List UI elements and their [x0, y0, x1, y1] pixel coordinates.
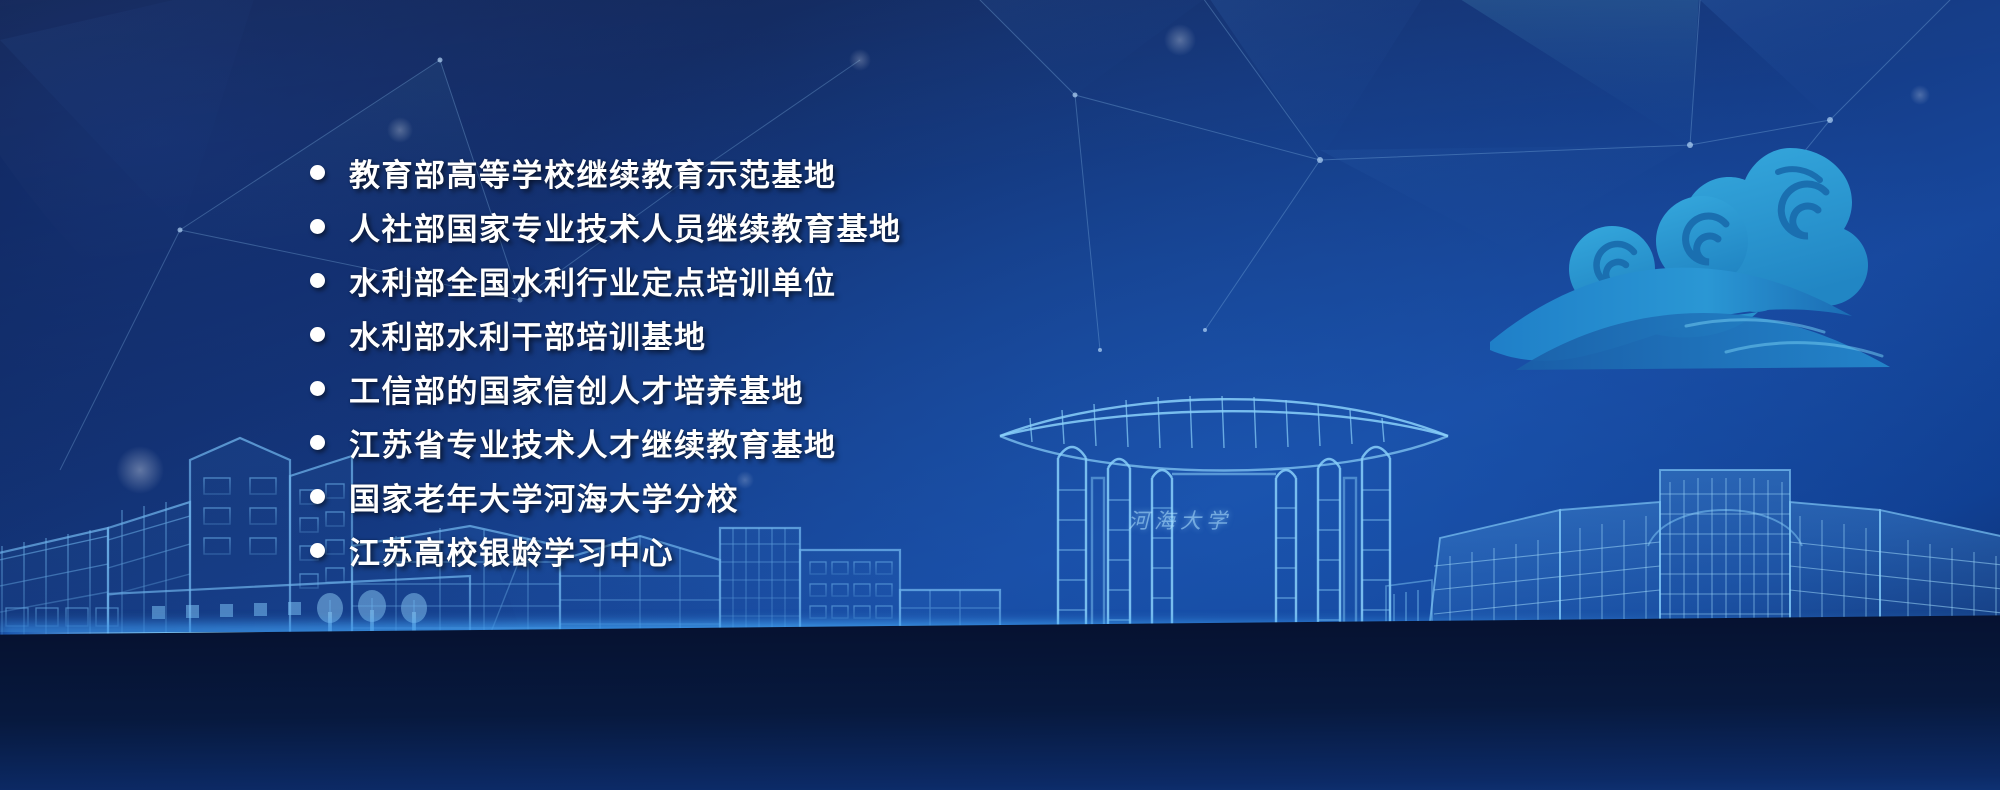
horizon-glow-blur — [0, 624, 2000, 640]
list-item-label: 人社部国家专业技术人员继续教育基地 — [349, 204, 902, 249]
bullet-dot-icon — [310, 543, 325, 558]
list-item: 江苏高校银龄学习中心 — [310, 523, 1310, 577]
bullet-dot-icon — [310, 327, 325, 342]
bullet-dot-icon — [310, 273, 325, 288]
list-item-label: 江苏高校银龄学习中心 — [349, 528, 674, 573]
list-item: 江苏省专业技术人才继续教育基地 — [310, 415, 1310, 469]
list-item-label: 工信部的国家信创人才培养基地 — [349, 366, 804, 411]
list-item-label: 国家老年大学河海大学分校 — [349, 474, 739, 519]
credential-list: 教育部高等学校继续教育示范基地 人社部国家专业技术人员继续教育基地 水利部全国水… — [310, 145, 1310, 577]
list-item-label: 水利部全国水利行业定点培训单位 — [349, 258, 837, 303]
bullet-dot-icon — [310, 165, 325, 180]
bullet-dot-icon — [310, 435, 325, 450]
list-item-label: 江苏省专业技术人才继续教育基地 — [349, 420, 837, 465]
list-item: 水利部全国水利行业定点培训单位 — [310, 253, 1310, 307]
auspicious-cloud-wave-emblem — [1490, 130, 1910, 370]
list-item: 工信部的国家信创人才培养基地 — [310, 361, 1310, 415]
bullet-dot-icon — [310, 381, 325, 396]
list-item-label: 水利部水利干部培训基地 — [349, 312, 707, 357]
list-item: 教育部高等学校继续教育示范基地 — [310, 145, 1310, 199]
list-item: 水利部水利干部培训基地 — [310, 307, 1310, 361]
list-item: 人社部国家专业技术人员继续教育基地 — [310, 199, 1310, 253]
bullet-dot-icon — [310, 219, 325, 234]
list-item: 国家老年大学河海大学分校 — [310, 469, 1310, 523]
horizon-line — [0, 632, 2000, 635]
bullet-dot-icon — [310, 489, 325, 504]
list-item-label: 教育部高等学校继续教育示范基地 — [349, 150, 837, 195]
foreground-dark-band — [0, 615, 2000, 790]
banner-root: 河海大学 教育部高等学校继续教育示范基地 人社部国家专业技术人员继续教育基地 水… — [0, 0, 2000, 790]
